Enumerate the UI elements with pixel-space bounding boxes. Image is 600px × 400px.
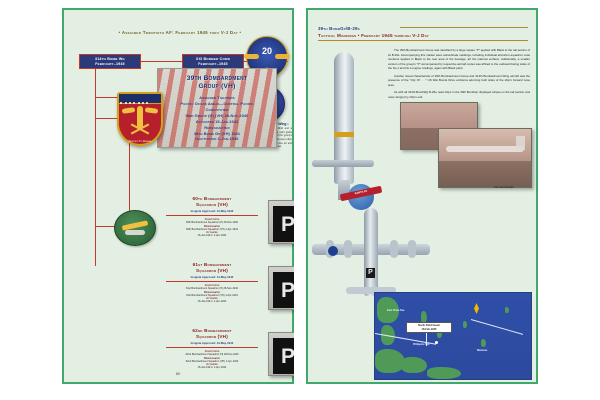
article-paragraph: As with all 314th BombWg B-29s, lead shi…: [388, 90, 530, 99]
landmass: [505, 307, 509, 313]
right-page: 39th BombGp/B-29s Tactical Markings • Fe…: [306, 8, 538, 384]
squadron-name-line2: Squadron (VH): [160, 268, 264, 274]
left-page-number: 80: [64, 371, 292, 376]
group-title: 39th Bombardment Group (VH): [158, 75, 276, 91]
right-page-title-line1: 39th BombGp/B-29s: [318, 26, 360, 31]
chart-connector: [141, 61, 182, 62]
left-page-header: • Assigned Twentieth AF: February 1945 t…: [74, 30, 286, 35]
squadron-detail-text: 15-Jan-1941 / 1-Apr-1944: [160, 300, 264, 304]
squadron-block-60th: 60th Bombardment Squadron (VH) Insignia …: [160, 196, 264, 238]
map-label: East China Sea: [387, 309, 404, 312]
chart-connector: [95, 69, 96, 119]
squadron-subtitle: Insignia Approved: 13-May-1942: [160, 341, 264, 345]
fuselage: [364, 208, 378, 296]
right-page-number: 81: [308, 371, 536, 376]
right-page-title-line2: Tactical Markings • February 1945 throug…: [318, 33, 429, 38]
title-rule: [400, 27, 528, 28]
map-callout-north-field-guam: North Field Guam 16-Feb-1945: [406, 322, 452, 333]
chart-box-bomber-command: XXI Bomber Comd February–1945: [182, 54, 244, 69]
group-history-lines: Assigned Theaters Pacific Ocean Areas—Ce…: [158, 95, 276, 142]
rising-sun-icon: [471, 303, 482, 314]
photo-aircraft-tail: [516, 136, 525, 150]
title-rule: [318, 40, 528, 41]
landmass: [481, 339, 486, 347]
engine-nacelle: [390, 240, 398, 258]
shield-motto: Destroy To Defend: [120, 140, 160, 143]
national-insignia-icon: [328, 246, 338, 256]
shield-wing-right-icon: [145, 107, 159, 114]
group-title-line1: 39th Bombardment: [158, 75, 276, 83]
squadron-name-line2: Squadron (VH): [160, 202, 264, 208]
engine-nacelle: [344, 240, 352, 258]
squadron-detail-text: 15-Jan-1941 / 1-Apr-1944: [160, 234, 264, 238]
left-page: • Assigned Twentieth AF: February 1945 t…: [62, 8, 294, 384]
article-body: The 39th Bombardment Group was identifie…: [388, 48, 530, 102]
shield-wing-left-icon: [122, 107, 136, 114]
article-paragraph: Another visual characteristic of 39th Bo…: [388, 74, 530, 88]
squadron-block-61st: 61st Bombardment Squadron (VH) Insignia …: [160, 262, 264, 304]
group-history-line: Inactivated 1-Jan-1946: [158, 136, 276, 142]
pacific-theater-map: East China Sea Philippine Sea Marianas: [374, 292, 532, 380]
air-force-number: 20: [247, 46, 287, 56]
photo-aircraft: [446, 146, 523, 152]
wing-left: [312, 244, 366, 255]
patch-bomb-icon: [125, 230, 145, 235]
divider: [166, 281, 258, 282]
wing: [312, 160, 374, 167]
squadron-block-62nd: 62nd Bombardment Squadron (VH) Insignia …: [160, 328, 264, 370]
archive-photo-2: [438, 128, 532, 188]
squadron-patch-icon: [114, 210, 156, 246]
shield-chief: [119, 94, 161, 104]
group-shield-icon: Destroy To Defend: [117, 92, 163, 146]
callout-line2: 16-Feb-1945: [407, 328, 451, 332]
chart-connector: [95, 118, 96, 266]
engine-nacelle: [408, 240, 416, 258]
squadron-detail-text: 15-Jan-1941 / 1-Apr-1944: [160, 366, 264, 370]
chart-box-bomb-wing: 314th Bomb Wg February–1945: [79, 54, 141, 69]
route-endpoint: [435, 341, 438, 344]
photo-horizon: [439, 161, 531, 187]
article-paragraph: The 39th Bombardment Group was identifie…: [388, 48, 530, 71]
book-gutter: [294, 8, 306, 384]
divider: [166, 347, 258, 348]
fuselage-band: [334, 132, 354, 137]
map-label: Marianas: [477, 349, 487, 352]
bomber-command-date: February–1945: [184, 62, 242, 67]
flight-route-line: [471, 319, 523, 335]
squadron-name-line2: Squadron (VH): [160, 334, 264, 340]
bomb-wing-date: February–1945: [81, 62, 139, 67]
book-spread: • Assigned Twentieth AF: February 1945 t…: [0, 0, 600, 400]
callout-leader-line: [426, 332, 427, 346]
photo-caption: 61st BombSqdn: [494, 186, 514, 189]
group-title-line2: Group (VH): [158, 83, 276, 91]
group-plaque: 39th Bombardment Group (VH) Assigned The…: [157, 68, 277, 148]
tail-code-letter-marking: P: [366, 268, 375, 278]
squadron-subtitle: Insignia Approved: 13-May-1942: [160, 209, 264, 213]
divider: [166, 215, 258, 216]
wing-right: [376, 244, 430, 255]
shield-bomb-icon: [137, 106, 143, 128]
squadron-subtitle: Insignia Approved: 13-May-1942: [160, 275, 264, 279]
landmass: [463, 321, 467, 328]
b29-plan-view-illustration: P: [312, 206, 430, 298]
